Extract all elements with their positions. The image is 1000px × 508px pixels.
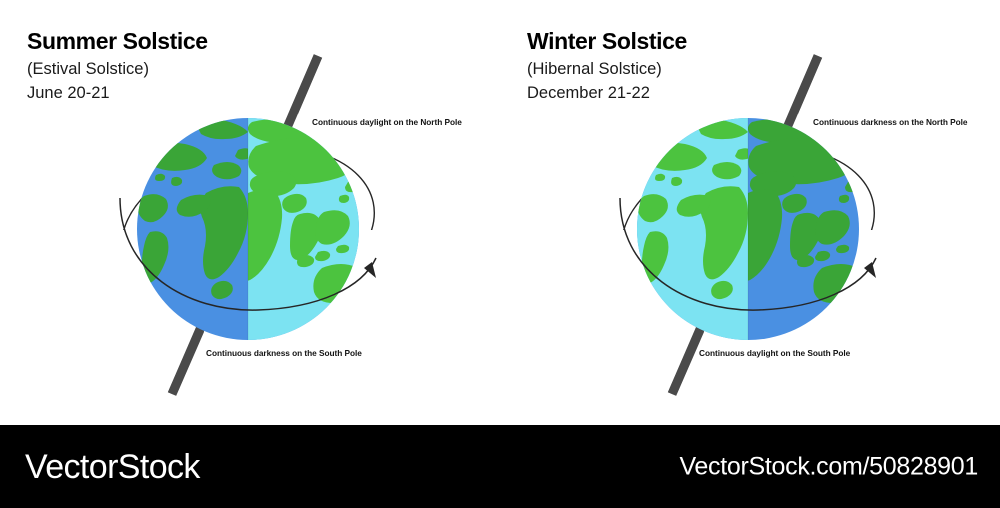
panel-winter-solstice: Winter Solstice (Hibernal Solstice) Dece…: [500, 0, 1000, 425]
globe-illustration-summer: [0, 0, 500, 425]
note-south-pole-winter: Continuous daylight on the South Pole: [699, 348, 850, 358]
brand-url: VectorStock.com/50828901: [679, 454, 978, 479]
earth-globe-summer: [137, 110, 378, 350]
watermark-footer-bar: VectorStock VectorStock.com/50828901: [0, 425, 1000, 508]
panel-summer-solstice: Summer Solstice (Estival Solstice) June …: [0, 0, 500, 425]
earth-globe-winter: [630, 110, 866, 350]
note-north-pole-winter: Continuous darkness on the North Pole: [813, 117, 967, 127]
note-south-pole-summer: Continuous darkness on the South Pole: [206, 348, 362, 358]
rotation-arrow-winter: [864, 262, 876, 278]
diagram-canvas: Summer Solstice (Estival Solstice) June …: [0, 0, 1000, 508]
rotation-arrow-summer: [364, 262, 376, 278]
globe-illustration-winter: [500, 0, 1000, 425]
brand-wordmark: VectorStock: [25, 450, 200, 484]
note-north-pole-summer: Continuous daylight on the North Pole: [312, 117, 462, 127]
